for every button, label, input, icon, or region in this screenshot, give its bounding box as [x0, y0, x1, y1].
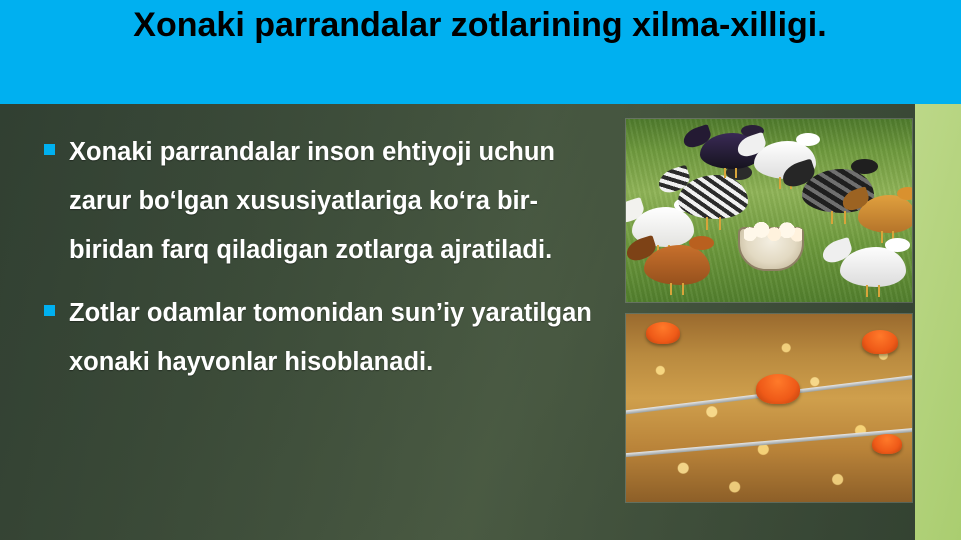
body-content: Xonaki parrandalar inson ehtiyoji uchun …: [44, 128, 614, 540]
title-band: Xonaki parrandalar zotlarining xilma-xil…: [0, 0, 961, 104]
page-title: Xonaki parrandalar zotlarining xilma-xil…: [30, 2, 930, 48]
list-item: Xonaki parrandalar inson ehtiyoji uchun …: [44, 128, 614, 275]
orange-feeder: [862, 330, 898, 354]
chickens-in-yard-photo: [625, 118, 913, 303]
bullet-text: Xonaki parrandalar inson ehtiyoji uchun …: [69, 128, 614, 275]
slide: ZIYO Xonaki parrandalar zotlarining xilm…: [0, 0, 961, 540]
bullet-text: Zotlar odamlar tomonidan sun’iy yaratilg…: [69, 289, 614, 387]
hen-white-right: [840, 247, 906, 287]
bullet-square-icon: [44, 305, 55, 316]
bullet-square-icon: [44, 144, 55, 155]
hen-speckled: [678, 175, 748, 219]
chicks-in-poultry-house-photo: [625, 313, 913, 503]
orange-feeder: [756, 374, 800, 404]
hen-brown: [644, 245, 710, 285]
eggs: [744, 221, 802, 243]
list-item: Zotlar odamlar tomonidan sun’iy yaratilg…: [44, 289, 614, 387]
orange-feeder: [646, 322, 680, 344]
hen-golden: [858, 195, 913, 233]
orange-feeder: [872, 434, 902, 454]
